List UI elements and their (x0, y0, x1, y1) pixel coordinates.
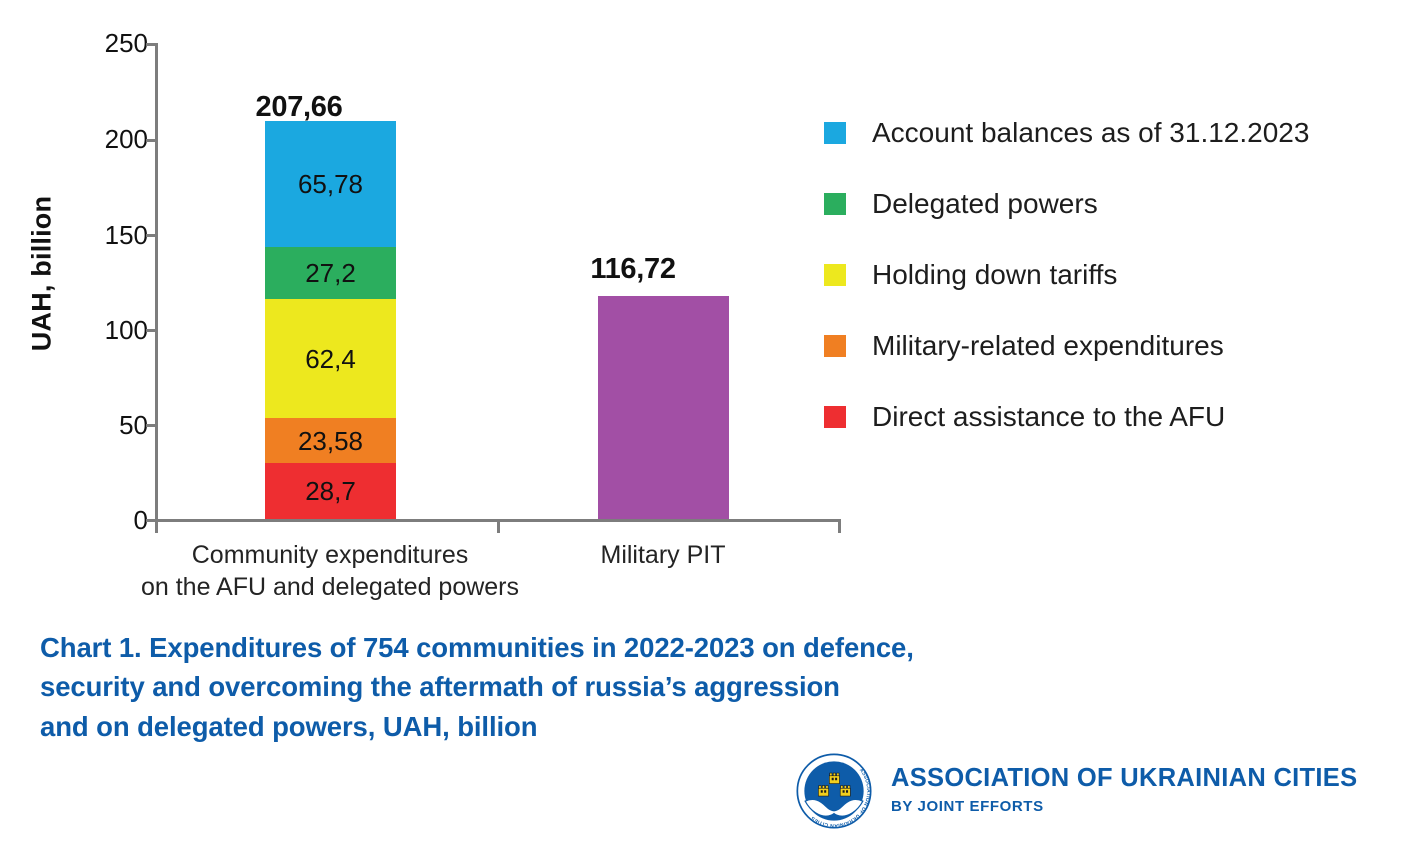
x-tick-mark-left (155, 519, 158, 533)
chart-caption-line2: security and overcoming the aftermath of… (40, 667, 1160, 706)
legend-swatch-holding-down-tariffs-icon (824, 264, 846, 286)
legend-item-delegated-powers[interactable]: Delegated powers (824, 189, 1098, 219)
x-tick-mark-middle (497, 519, 500, 533)
legend-item-military-related-expenditures[interactable]: Military-related expenditures (824, 331, 1224, 361)
chart-canvas: UAH, billion 250 200 150 100 50 0 207,66… (0, 0, 1409, 846)
bar-segment-account-balances[interactable]: 65,78 (265, 121, 396, 247)
bar-segment-delegated-powers[interactable]: 27,2 (265, 247, 396, 299)
legend-swatch-military-related-expenditures-icon (824, 335, 846, 357)
y-tick-label-0: 0 (78, 507, 148, 533)
bar-segment-military-related-expenditures[interactable]: 23,58 (265, 418, 396, 463)
x-category-label-community-line2: on the AFU and delegated powers (130, 571, 530, 603)
x-tick-mark-right (838, 519, 841, 533)
legend-swatch-account-balances-icon (824, 122, 846, 144)
footer-text-block: ASSOCIATION OF UKRAINIAN CITIES BY JOINT… (891, 764, 1357, 818)
legend-label-direct-assistance-afu: Direct assistance to the AFU (872, 403, 1225, 431)
legend-swatch-direct-assistance-afu-icon (824, 406, 846, 428)
legend-label-military-related-expenditures: Military-related expenditures (872, 332, 1224, 360)
organization-name: ASSOCIATION OF UKRAINIAN CITIES (891, 764, 1357, 792)
chart-caption-line3: and on delegated powers, UAH, billion (40, 707, 1160, 746)
y-axis-line (155, 43, 158, 521)
x-category-label-community-line1: Community expenditures (130, 539, 530, 571)
bar-segment-direct-assistance-afu[interactable]: 28,7 (265, 463, 396, 519)
bar-military-pit[interactable] (598, 296, 729, 519)
bar-segment-holding-down-tariffs[interactable]: 62,4 (265, 299, 396, 418)
bar-segment-label-account-balances: 65,78 (298, 171, 363, 197)
legend-label-holding-down-tariffs: Holding down tariffs (872, 261, 1117, 289)
y-tick-label-200: 200 (78, 126, 148, 152)
legend-item-direct-assistance-afu[interactable]: Direct assistance to the AFU (824, 402, 1225, 432)
bar-segment-label-direct-assistance-afu: 28,7 (305, 478, 356, 504)
bar-segment-label-holding-down-tariffs: 62,4 (305, 346, 356, 372)
x-category-label-military-pit-line1: Military PIT (563, 539, 763, 571)
association-of-ukrainian-cities-logo-icon: ASSOCIATION OF UKRAINIAN CITIES (795, 752, 873, 830)
footer-branding: ASSOCIATION OF UKRAINIAN CITIES (795, 752, 1357, 830)
legend-label-account-balances: Account balances as of 31.12.2023 (872, 119, 1309, 147)
y-tick-label-50: 50 (78, 412, 148, 438)
x-category-label-community: Community expenditures on the AFU and de… (130, 539, 530, 603)
y-tick-label-150: 150 (78, 222, 148, 248)
bar-total-label-military-pit: 116,72 (533, 253, 733, 286)
bar-segment-label-military-related-expenditures: 23,58 (298, 428, 363, 454)
legend-swatch-delegated-powers-icon (824, 193, 846, 215)
x-category-label-military-pit: Military PIT (563, 539, 763, 571)
organization-tagline: BY JOINT EFFORTS (891, 799, 1357, 816)
legend-label-delegated-powers: Delegated powers (872, 190, 1098, 218)
bar-segment-label-delegated-powers: 27,2 (305, 260, 356, 286)
legend-item-account-balances[interactable]: Account balances as of 31.12.2023 (824, 118, 1309, 148)
legend-item-holding-down-tariffs[interactable]: Holding down tariffs (824, 260, 1117, 290)
y-tick-label-100: 100 (78, 317, 148, 343)
chart-caption-line1: Chart 1. Expenditures of 754 communities… (40, 628, 1160, 667)
y-tick-label-250: 250 (78, 30, 148, 56)
chart-caption: Chart 1. Expenditures of 754 communities… (40, 628, 1160, 746)
y-axis-title: UAH, billion (27, 174, 58, 374)
